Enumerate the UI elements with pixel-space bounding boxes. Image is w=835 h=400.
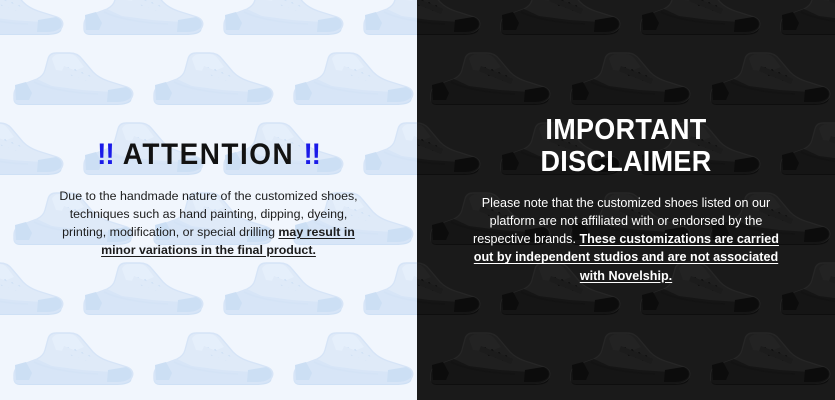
promo-banner: !!ATTENTION!! Due to the handmade nature… xyxy=(0,0,835,400)
exclamation-right: !! xyxy=(303,140,319,170)
disclaimer-content: IMPORTANT DISCLAIMER Please note that th… xyxy=(417,115,835,284)
disclaimer-panel: IMPORTANT DISCLAIMER Please note that th… xyxy=(417,0,835,400)
attention-content: !!ATTENTION!! Due to the handmade nature… xyxy=(0,140,417,259)
attention-heading: !!ATTENTION!! xyxy=(46,140,371,170)
disclaimer-heading-line1: IMPORTANT xyxy=(458,115,795,146)
disclaimer-heading: IMPORTANT DISCLAIMER xyxy=(458,115,795,178)
attention-panel: !!ATTENTION!! Due to the handmade nature… xyxy=(0,0,417,400)
attention-title: ATTENTION xyxy=(123,138,294,171)
attention-body: Due to the handmade nature of the custom… xyxy=(59,188,359,259)
disclaimer-heading-line2: DISCLAIMER xyxy=(458,147,795,178)
disclaimer-body: Please note that the customized shoes li… xyxy=(467,194,785,285)
exclamation-left: !! xyxy=(97,140,113,170)
